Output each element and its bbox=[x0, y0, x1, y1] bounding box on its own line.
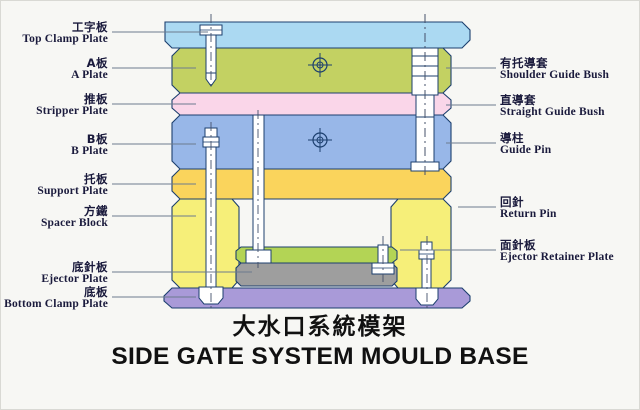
label-stripper-plate: 推板 Stripper Plate bbox=[8, 93, 108, 118]
label-a-plate-cn: A板 bbox=[8, 57, 108, 69]
label-bottom-clamp-plate-cn: 底板 bbox=[0, 286, 108, 298]
diagram-title: 大水口系統模架 SIDE GATE SYSTEM MOULD BASE bbox=[0, 314, 640, 372]
label-ejector-retainer-plate-en: Ejector Retainer Plate bbox=[500, 251, 640, 263]
label-spacer-block-cn: 方鐵 bbox=[8, 205, 108, 217]
label-ejector-plate: 底針板 Ejector Plate bbox=[8, 261, 108, 286]
label-ejector-retainer-plate-cn: 面針板 bbox=[500, 239, 640, 251]
label-support-plate-en: Support Plate bbox=[8, 185, 108, 197]
label-guide-pin: 導柱 Guide Pin bbox=[500, 132, 638, 157]
plate-stripper bbox=[172, 93, 451, 115]
label-support-plate: 托板 Support Plate bbox=[8, 173, 108, 198]
label-guide-pin-cn: 導柱 bbox=[500, 132, 638, 144]
diagram-page: 工字板 Top Clamp Plate A板 A Plate 推板 Stripp… bbox=[0, 0, 640, 410]
label-straight-guide-bush-cn: 直導套 bbox=[500, 94, 638, 106]
label-b-plate-en: B Plate bbox=[8, 145, 108, 157]
label-top-clamp-plate: 工字板 Top Clamp Plate bbox=[8, 21, 108, 46]
label-straight-guide-bush-en: Straight Guide Bush bbox=[500, 106, 638, 118]
label-bottom-clamp-plate: 底板 Bottom Clamp Plate bbox=[0, 286, 108, 311]
label-guide-pin-en: Guide Pin bbox=[500, 144, 638, 156]
label-shoulder-guide-bush-en: Shoulder Guide Bush bbox=[500, 69, 638, 81]
label-stripper-plate-cn: 推板 bbox=[8, 93, 108, 105]
label-top-clamp-plate-en: Top Clamp Plate bbox=[8, 33, 108, 45]
label-return-pin-cn: 回針 bbox=[500, 196, 638, 208]
label-b-plate: B板 B Plate bbox=[8, 133, 108, 158]
label-return-pin-en: Return Pin bbox=[500, 208, 638, 220]
label-spacer-block: 方鐵 Spacer Block bbox=[8, 205, 108, 230]
label-b-plate-cn: B板 bbox=[8, 133, 108, 145]
label-spacer-block-en: Spacer Block bbox=[8, 217, 108, 229]
label-ejector-retainer-plate: 面針板 Ejector Retainer Plate bbox=[500, 239, 640, 264]
label-stripper-plate-en: Stripper Plate bbox=[8, 105, 108, 117]
diagram-title-cn: 大水口系統模架 bbox=[0, 314, 640, 340]
label-ejector-plate-cn: 底針板 bbox=[8, 261, 108, 273]
label-a-plate-en: A Plate bbox=[8, 69, 108, 81]
label-bottom-clamp-plate-en: Bottom Clamp Plate bbox=[0, 298, 108, 310]
label-ejector-plate-en: Ejector Plate bbox=[8, 273, 108, 285]
label-shoulder-guide-bush-cn: 有托導套 bbox=[500, 57, 638, 69]
label-support-plate-cn: 托板 bbox=[8, 173, 108, 185]
label-return-pin: 回針 Return Pin bbox=[500, 196, 638, 221]
label-a-plate: A板 A Plate bbox=[8, 57, 108, 82]
diagram-title-en: SIDE GATE SYSTEM MOULD BASE bbox=[0, 342, 640, 371]
label-straight-guide-bush: 直導套 Straight Guide Bush bbox=[500, 94, 638, 119]
label-top-clamp-plate-cn: 工字板 bbox=[8, 21, 108, 33]
label-shoulder-guide-bush: 有托導套 Shoulder Guide Bush bbox=[500, 57, 638, 82]
